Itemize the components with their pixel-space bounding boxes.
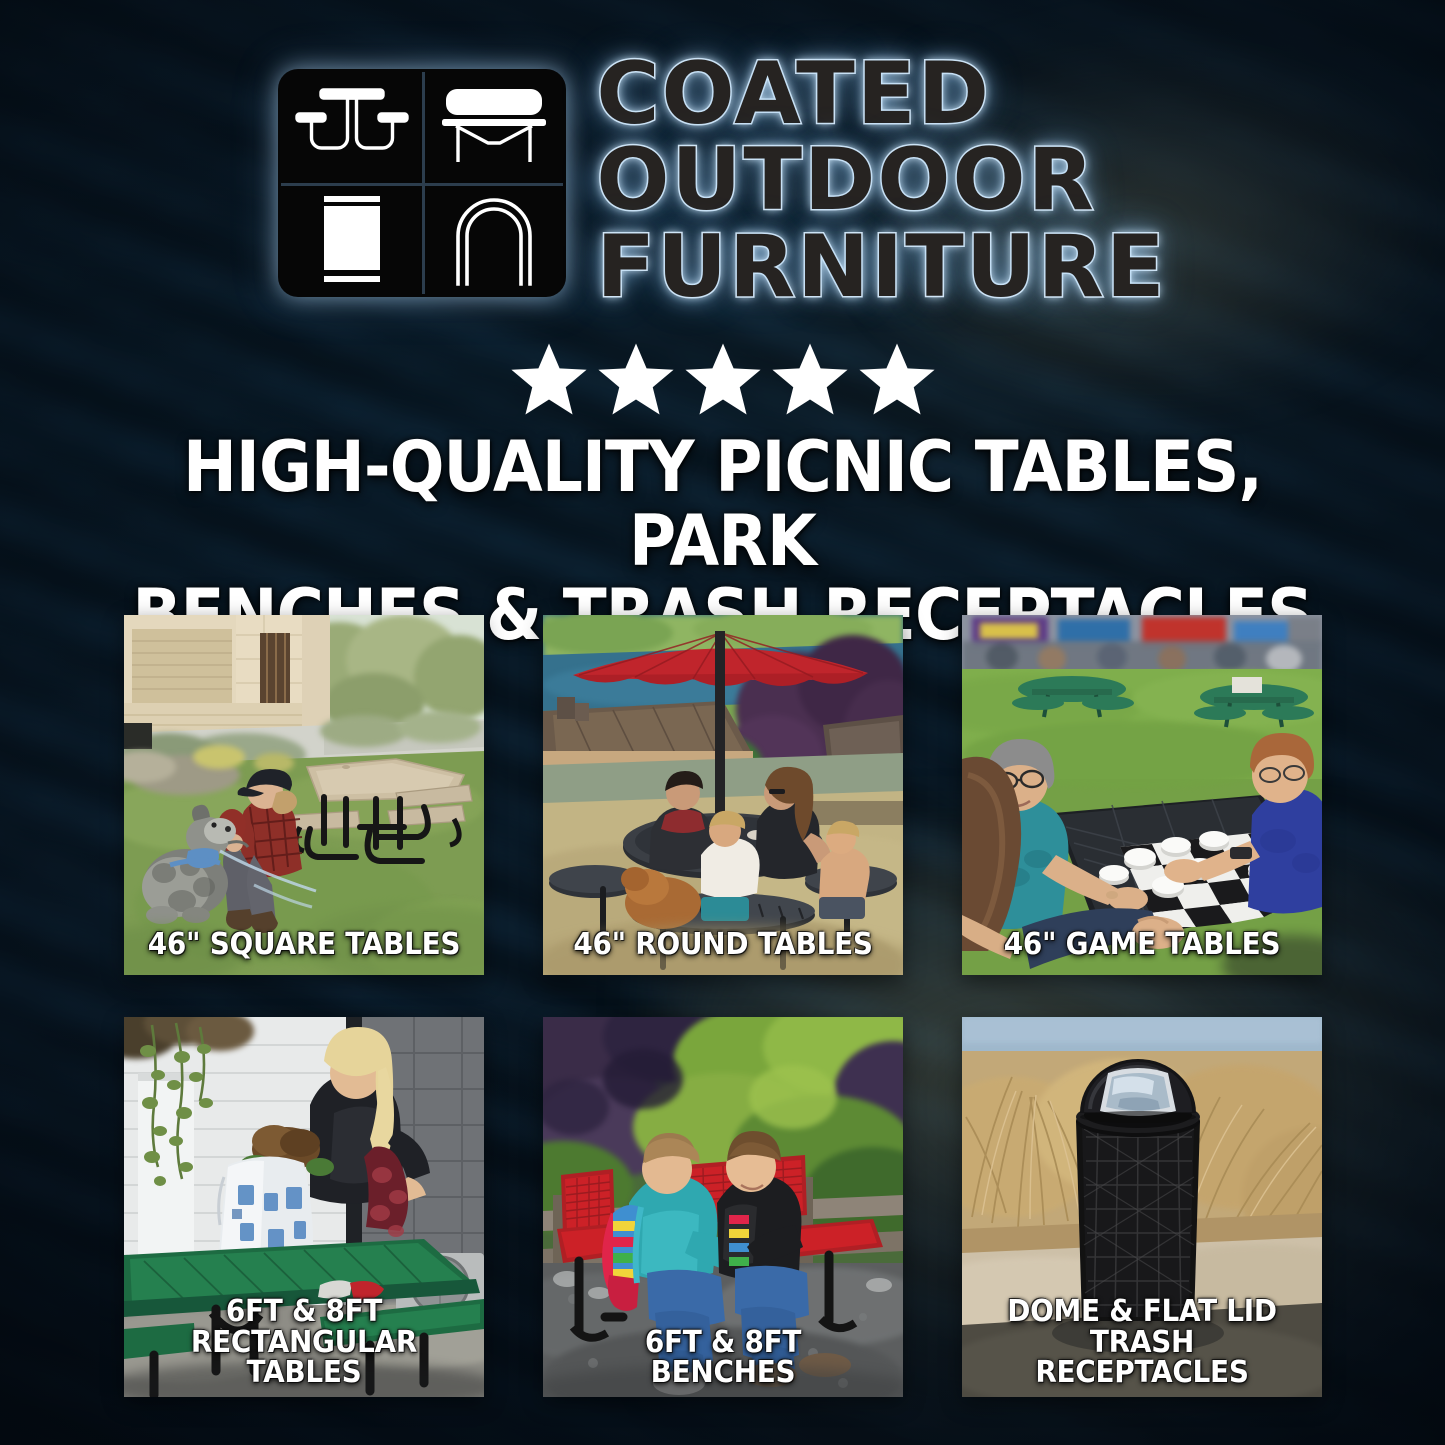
product-tile-trash-receptacles[interactable]: DOME & FLAT LID TRASH RECEPTACLES xyxy=(962,1017,1322,1397)
caption-line: 6FT & 8FT xyxy=(142,1297,466,1328)
square-tables-photo xyxy=(124,615,484,975)
star-icon xyxy=(682,338,764,420)
round-tables-photo xyxy=(543,615,903,975)
product-tile-rectangular-tables[interactable]: 6FT & 8FT RECTANGULAR TABLES xyxy=(124,1017,484,1397)
caption-line: 46" GAME TABLES xyxy=(980,930,1304,961)
star-icon xyxy=(769,338,851,420)
product-caption-round-tables: 46" ROUND TABLES xyxy=(549,930,897,961)
product-caption-benches: 6FT & 8FT BENCHES xyxy=(549,1328,897,1389)
product-tile-benches[interactable]: 6FT & 8FT BENCHES xyxy=(543,1017,903,1397)
star-icon xyxy=(595,338,677,420)
bike-rack-arch-icon xyxy=(422,183,563,294)
product-tile-square-tables[interactable]: 46" SQUARE TABLES xyxy=(124,615,484,975)
trash-receptacle-icon xyxy=(281,183,422,294)
product-caption-trash-receptacles: DOME & FLAT LID TRASH RECEPTACLES xyxy=(968,1297,1316,1389)
brand-name-line-3: FURNITURE xyxy=(596,225,1166,309)
star-icon xyxy=(856,338,938,420)
caption-line: 6FT & 8FT xyxy=(561,1328,885,1359)
star-icon xyxy=(508,338,590,420)
product-caption-rectangular-tables: 6FT & 8FT RECTANGULAR TABLES xyxy=(130,1297,478,1389)
brand-logo-mark xyxy=(278,69,566,297)
product-caption-square-tables: 46" SQUARE TABLES xyxy=(130,930,478,961)
caption-line: BENCHES xyxy=(561,1358,885,1389)
brand-name-line-1: COATED xyxy=(596,52,1166,136)
brand-name-line-2: OUTDOOR xyxy=(596,138,1166,222)
caption-line: 46" SQUARE TABLES xyxy=(142,930,466,961)
caption-line: RECTANGULAR TABLES xyxy=(142,1328,466,1389)
star-rating xyxy=(0,338,1445,420)
promotional-poster: COATED OUTDOOR FURNITURE HIGH-QUALITY PI… xyxy=(0,0,1445,1445)
picnic-table-front-icon xyxy=(281,72,422,183)
brand-name: COATED OUTDOOR FURNITURE xyxy=(596,52,1166,315)
brand-header: COATED OUTDOOR FURNITURE xyxy=(0,52,1445,315)
product-tile-round-tables[interactable]: 46" ROUND TABLES xyxy=(543,615,903,975)
product-caption-game-tables: 46" GAME TABLES xyxy=(968,930,1316,961)
game-tables-photo xyxy=(962,615,1322,975)
headline-line-1: HIGH-QUALITY PICNIC TABLES, PARK xyxy=(122,430,1323,578)
caption-line: 46" ROUND TABLES xyxy=(561,930,885,961)
product-tile-game-tables[interactable]: 46" GAME TABLES xyxy=(962,615,1322,975)
caption-line: DOME & FLAT LID xyxy=(980,1297,1304,1328)
product-tile-grid: 46" SQUARE TABLES xyxy=(124,615,1322,1397)
caption-line: TRASH RECEPTACLES xyxy=(980,1328,1304,1389)
bench-table-side-icon xyxy=(422,72,563,183)
